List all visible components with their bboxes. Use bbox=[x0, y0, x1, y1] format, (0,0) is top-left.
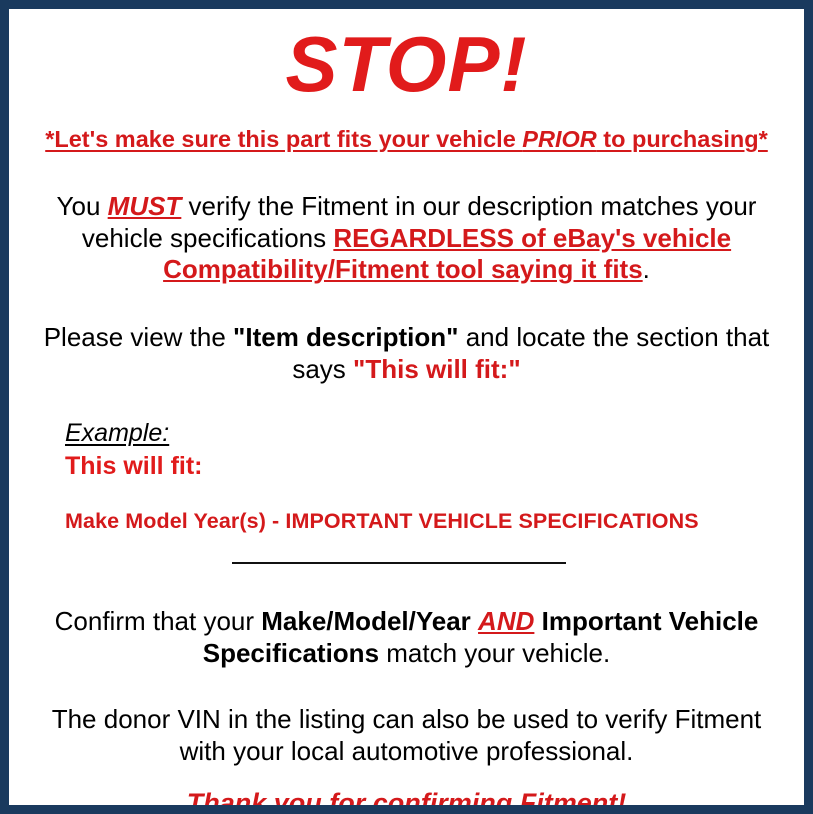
tagline-suffix: to purchasing* bbox=[597, 126, 768, 152]
example-block: Example: This will fit: Make Model Year(… bbox=[21, 419, 792, 534]
tagline-emphasis-prior: PRIOR bbox=[522, 126, 596, 152]
item-description-paragraph: Please view the "Item description" and l… bbox=[21, 322, 792, 385]
item-description-label: "Item description" bbox=[233, 322, 458, 352]
horizontal-divider bbox=[232, 562, 566, 564]
confirm-paragraph: Confirm that your Make/Model/Year AND Im… bbox=[21, 606, 792, 669]
thank-you-line: Thank you for confirming Fitment! bbox=[21, 787, 792, 814]
must-seg3: . bbox=[643, 254, 650, 284]
divider-wrapper bbox=[21, 562, 792, 572]
must-seg1: You bbox=[57, 191, 108, 221]
fitment-notice-card: STOP! *Let's make sure this part fits yo… bbox=[0, 0, 813, 814]
must-verify-paragraph: You MUST verify the Fitment in our descr… bbox=[21, 191, 792, 286]
example-this-will-fit: This will fit: bbox=[65, 450, 792, 483]
and-keyword: AND bbox=[478, 606, 534, 636]
example-spec-line: Make Model Year(s) - IMPORTANT VEHICLE S… bbox=[65, 509, 792, 535]
stop-heading: STOP! bbox=[21, 25, 792, 103]
donor-vin-paragraph: The donor VIN in the listing can also be… bbox=[21, 704, 792, 767]
must-keyword: MUST bbox=[108, 191, 182, 221]
example-label: Example: bbox=[65, 419, 792, 448]
itemdesc-seg1: Please view the bbox=[44, 322, 233, 352]
confirm-space1 bbox=[471, 606, 478, 636]
make-model-year-label: Make/Model/Year bbox=[261, 606, 471, 636]
confirm-seg2: match your vehicle. bbox=[379, 638, 610, 668]
confirm-space2 bbox=[534, 606, 541, 636]
this-will-fit-quote: "This will fit:" bbox=[353, 354, 521, 384]
confirm-seg1: Confirm that your bbox=[55, 606, 262, 636]
tagline-prefix: *Let's make sure this part fits your veh… bbox=[45, 126, 522, 152]
notice-content: STOP! *Let's make sure this part fits yo… bbox=[9, 25, 804, 814]
tagline: *Let's make sure this part fits your veh… bbox=[21, 127, 792, 153]
